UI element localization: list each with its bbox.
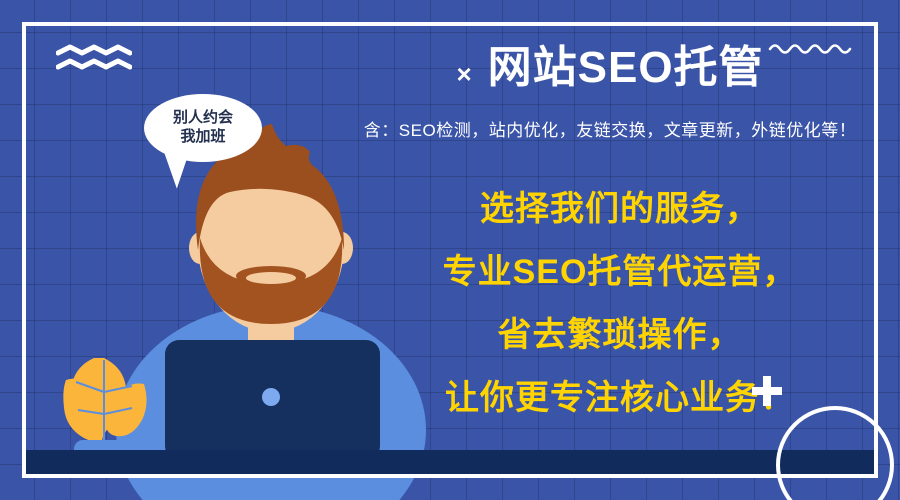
title-text: 网站SEO托管 bbox=[488, 44, 764, 92]
desk-surface bbox=[26, 450, 874, 474]
slogan-line-2: 专业SEO托管代运营， bbox=[400, 255, 840, 289]
subtitle-text: 含：SEO检测，站内优化，友链交换，文章更新，外链优化等！ bbox=[330, 116, 890, 141]
squiggle-wave-icon bbox=[768, 40, 854, 56]
speech-bubble-line-1: 别人约会 bbox=[173, 109, 233, 128]
circle-outline-icon bbox=[776, 406, 894, 500]
potted-plant-illustration bbox=[52, 348, 156, 466]
speech-bubble-line-2: 我加班 bbox=[180, 128, 225, 147]
slogan-line-1: 选择我们的服务， bbox=[400, 192, 840, 226]
slogan-line-3: 省去繁琐操作， bbox=[400, 318, 840, 352]
cross-bullet-icon: × bbox=[456, 61, 471, 87]
zigzag-wave-icon bbox=[56, 44, 132, 72]
seo-hosting-banner: 别人约会 我加班 × 网站SEO托管 含：SEO检测，站内优化，友链交换，文章更… bbox=[0, 0, 900, 500]
speech-bubble: 别人约会 我加班 bbox=[144, 94, 262, 162]
plus-icon bbox=[752, 376, 782, 406]
